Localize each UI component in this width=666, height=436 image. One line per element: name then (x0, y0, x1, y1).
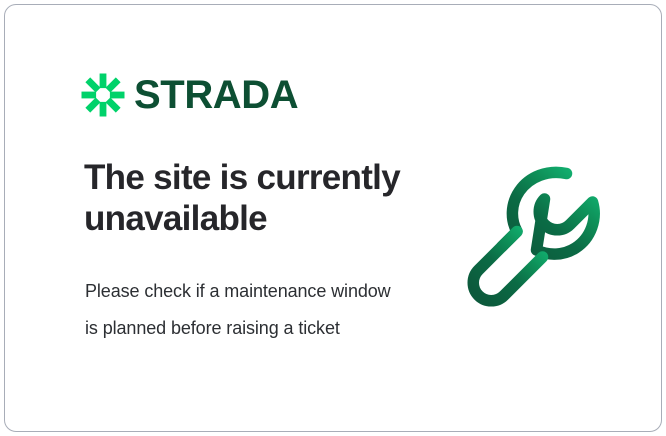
brand-lockup: STRADA (81, 73, 298, 117)
brand-wordmark: STRADA (134, 75, 298, 115)
page-description: Please check if a maintenance window is … (85, 273, 395, 348)
page-title: The site is currently unavailable (84, 157, 424, 240)
strada-asterisk-icon (81, 73, 125, 117)
status-card: STRADA The site is currently unavailable… (4, 4, 662, 432)
page-root: STRADA The site is currently unavailable… (0, 0, 666, 436)
wrench-icon (460, 157, 618, 315)
